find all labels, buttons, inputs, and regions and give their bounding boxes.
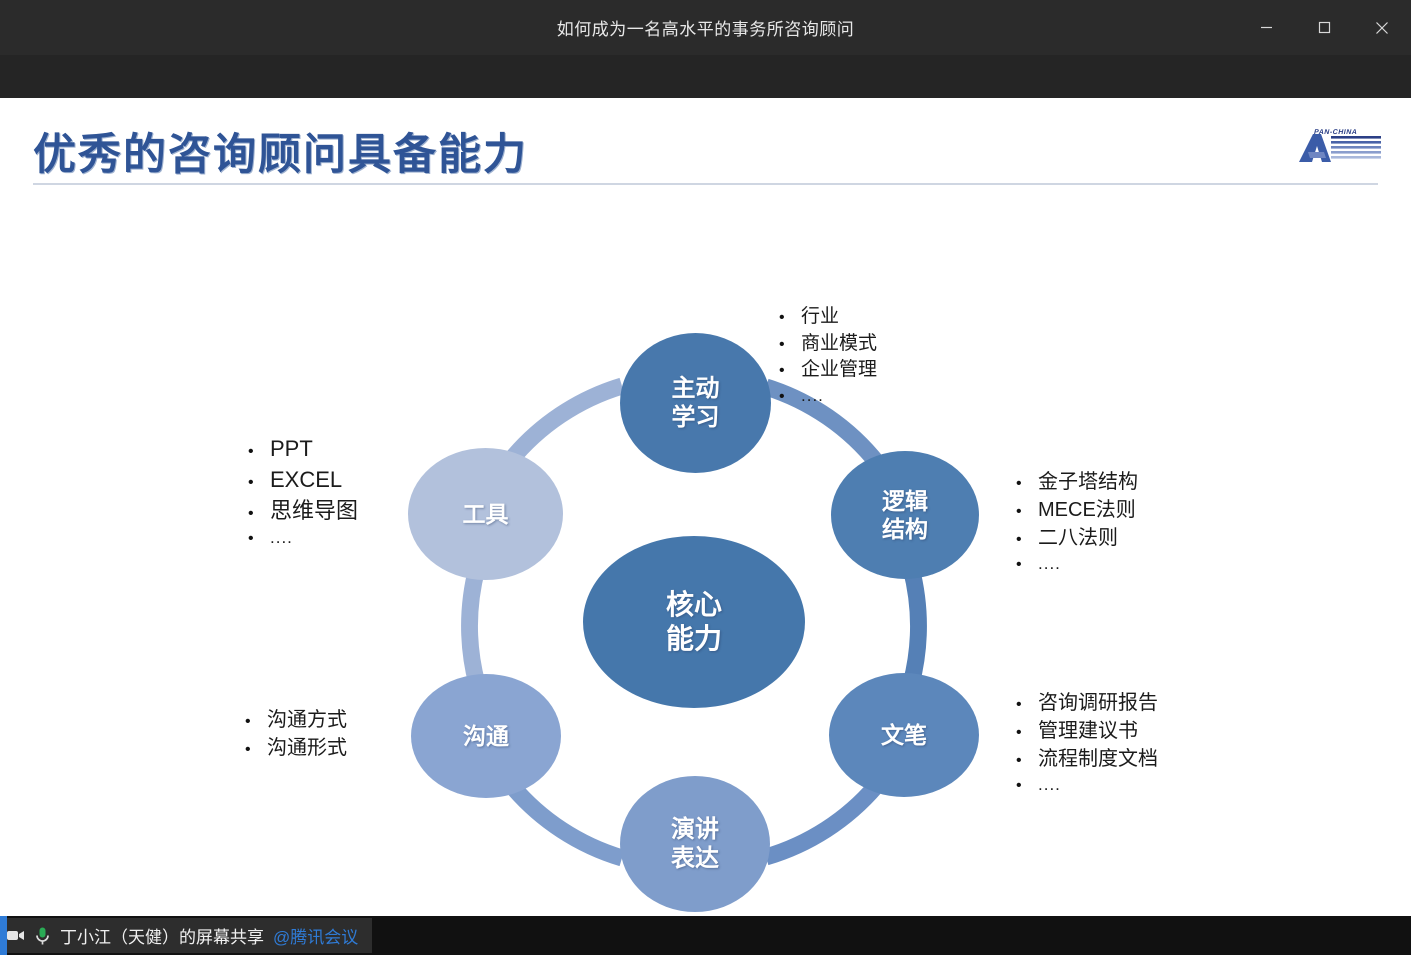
node-speech-line2: 表达 (671, 844, 719, 873)
share-app-label: @腾讯会议 (273, 923, 358, 948)
bullet-item: •MECE法则 (1016, 496, 1138, 524)
bullets-tools: •PPT•EXCEL•思维导图•.... (248, 434, 358, 551)
close-button[interactable] (1353, 0, 1411, 55)
bullet-dot-icon: • (1016, 501, 1038, 523)
bullet-text: .... (1038, 552, 1061, 576)
bullet-item: •沟通方式 (245, 706, 347, 734)
minimize-icon (1260, 21, 1273, 34)
share-owner-label: 丁小江（天健）的屏幕共享 (60, 923, 264, 948)
bullet-item: •PPT (248, 434, 358, 465)
bullet-dot-icon: • (779, 307, 801, 329)
bullet-text: MECE法则 (1038, 496, 1136, 524)
node-communication[interactable]: 沟通 (411, 674, 561, 798)
bullet-dot-icon: • (245, 711, 267, 733)
bullet-item: •思维导图 (248, 496, 358, 527)
bullet-dot-icon: • (1016, 554, 1038, 576)
bullet-dot-icon: • (248, 472, 270, 494)
bullet-text: 思维导图 (270, 496, 358, 527)
bullet-item: •行业 (779, 304, 877, 331)
bullet-item: •.... (1016, 773, 1158, 797)
share-status-pill[interactable]: 丁小江（天健）的屏幕共享 @腾讯会议 (0, 918, 372, 953)
bullet-dot-icon: • (248, 441, 270, 463)
node-core-line1: 核心 (666, 588, 722, 622)
bullet-item: •企业管理 (779, 357, 877, 384)
bullet-item: •.... (248, 526, 358, 550)
minimize-button[interactable] (1237, 0, 1295, 55)
bullet-item: •咨询调研报告 (1016, 689, 1158, 717)
bullets-active-learning: •行业•商业模式•企业管理•.... (779, 304, 877, 408)
node-presentation[interactable]: 演讲 表达 (620, 776, 770, 912)
bullets-writing: •咨询调研报告•管理建议书•流程制度文档•.... (1016, 689, 1158, 797)
node-active-line1: 主动 (672, 374, 720, 403)
node-writing[interactable]: 文笔 (829, 673, 979, 797)
bullet-text: 金子塔结构 (1038, 468, 1138, 496)
node-tools[interactable]: 工具 (408, 448, 563, 580)
bullet-dot-icon: • (1016, 750, 1038, 772)
bullet-item: •.... (779, 384, 877, 408)
node-core-capability[interactable]: 核心 能力 (583, 536, 805, 708)
maximize-icon (1318, 21, 1331, 34)
titlebar-underbar (0, 55, 1411, 98)
bullet-text: .... (270, 526, 293, 550)
window-titlebar: 如何成为一名高水平的事务所咨询顾问 (0, 0, 1411, 55)
bullet-text: .... (801, 384, 824, 408)
bullet-item: •二八法则 (1016, 524, 1138, 552)
node-comm-line1: 沟通 (463, 722, 509, 750)
bullet-text: 商业模式 (801, 331, 877, 358)
maximize-button[interactable] (1295, 0, 1353, 55)
core-competency-diagram: 核心 能力 主动 学习 逻辑 结构 文笔 演讲 表达 沟通 工具 •行业•商业模… (0, 98, 1411, 916)
node-logic-line1: 逻辑 (882, 487, 928, 515)
camera-icon[interactable] (6, 926, 25, 945)
bullet-dot-icon: • (1016, 722, 1038, 744)
bullet-dot-icon: • (245, 739, 267, 761)
bullet-text: 沟通方式 (267, 706, 347, 734)
bullet-item: •商业模式 (779, 331, 877, 358)
bullet-item: •.... (1016, 552, 1138, 576)
node-logic-line2: 结构 (882, 515, 928, 543)
bullet-item: •EXCEL (248, 465, 358, 496)
bullet-text: 行业 (801, 304, 839, 331)
node-tools-line1: 工具 (463, 500, 509, 528)
node-active-line2: 学习 (672, 403, 720, 432)
bullets-communication: •沟通方式•沟通形式 (245, 706, 347, 762)
bullet-text: 二八法则 (1038, 524, 1118, 552)
bullet-dot-icon: • (1016, 473, 1038, 495)
bullet-text: 企业管理 (801, 357, 877, 384)
node-core-line2: 能力 (666, 622, 722, 656)
bullet-dot-icon: • (779, 334, 801, 356)
bullet-text: 流程制度文档 (1038, 745, 1158, 773)
bullet-text: PPT (270, 434, 313, 465)
node-logic-structure[interactable]: 逻辑 结构 (831, 451, 979, 579)
bullet-dot-icon: • (248, 528, 270, 550)
bullet-item: •管理建议书 (1016, 717, 1158, 745)
statusbar-accent-bar (0, 916, 7, 955)
bullet-text: .... (1038, 773, 1061, 797)
node-writing-line1: 文笔 (881, 721, 927, 749)
bullet-dot-icon: • (779, 360, 801, 382)
bullet-dot-icon: • (1016, 775, 1038, 797)
bullet-item: •沟通形式 (245, 734, 347, 762)
bullet-dot-icon: • (1016, 694, 1038, 716)
bullet-text: 沟通形式 (267, 734, 347, 762)
bullets-logic-structure: •金子塔结构•MECE法则•二八法则•.... (1016, 468, 1138, 576)
bullet-item: •流程制度文档 (1016, 745, 1158, 773)
bullet-text: EXCEL (270, 465, 342, 496)
bullet-text: 管理建议书 (1038, 717, 1138, 745)
node-speech-line1: 演讲 (671, 815, 719, 844)
node-active-learning[interactable]: 主动 学习 (620, 333, 771, 473)
bullet-dot-icon: • (779, 386, 801, 408)
bullet-item: •金子塔结构 (1016, 468, 1138, 496)
bullet-dot-icon: • (1016, 529, 1038, 551)
microphone-icon[interactable] (34, 926, 51, 946)
close-icon (1375, 21, 1389, 35)
bullet-text: 咨询调研报告 (1038, 689, 1158, 717)
window-controls (1237, 0, 1411, 55)
shared-slide-canvas: 优秀的咨询顾问具备能力 PAN-CHINA (0, 98, 1411, 916)
screen-share-statusbar: 丁小江（天健）的屏幕共享 @腾讯会议 (0, 916, 1411, 955)
bullet-dot-icon: • (248, 503, 270, 525)
window-title: 如何成为一名高水平的事务所咨询顾问 (557, 15, 855, 40)
